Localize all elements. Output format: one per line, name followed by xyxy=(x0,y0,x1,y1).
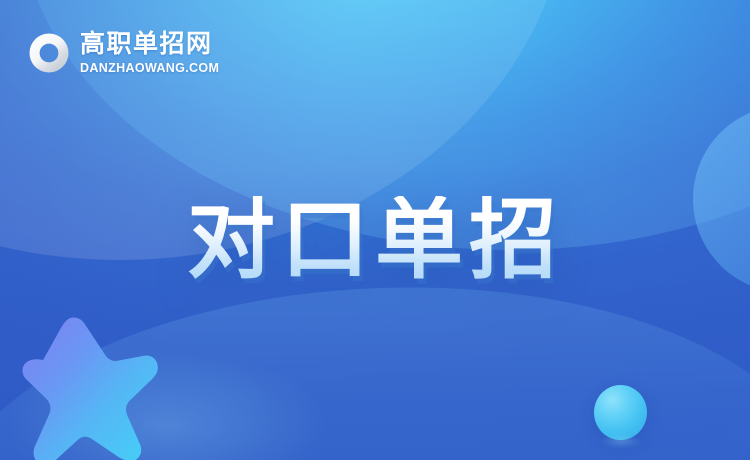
logo-name-en: DANZHAOWANG.COM xyxy=(80,62,219,75)
banner-title: 对口单招 xyxy=(187,196,563,284)
ring-logo-icon xyxy=(28,32,70,74)
logo-text-block: 高职单招网 DANZHAOWANG.COM xyxy=(80,32,219,75)
headline-container: 对口单招 xyxy=(0,196,750,284)
promo-banner: 高职单招网 DANZHAOWANG.COM 对口单招 xyxy=(0,0,750,460)
logo-name-cn: 高职单招网 xyxy=(80,32,219,57)
star-decoration xyxy=(0,299,178,460)
sphere-decoration xyxy=(594,385,647,440)
sphere-reflection-decoration xyxy=(600,437,642,448)
site-logo[interactable]: 高职单招网 DANZHAOWANG.COM xyxy=(28,32,219,75)
